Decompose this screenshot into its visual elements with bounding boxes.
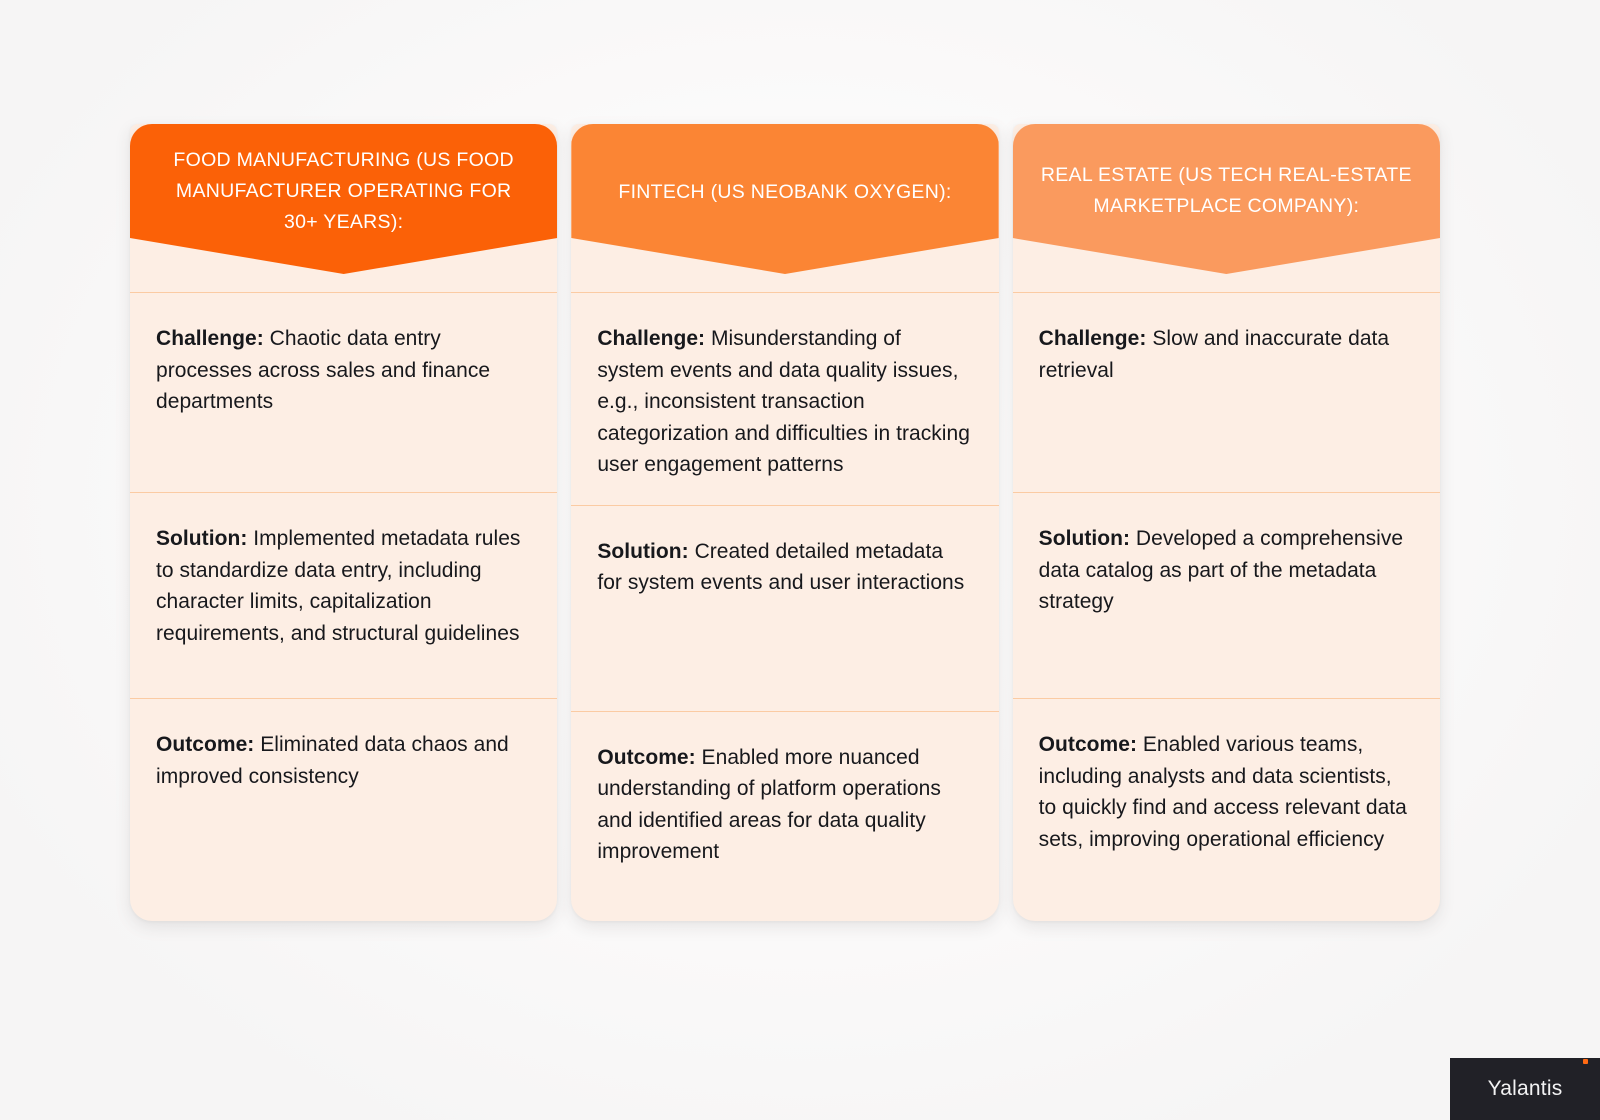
section-outcome: Outcome: Eliminated data chaos and impro… [130,698,557,908]
section-challenge: Challenge: Misunderstanding of system ev… [571,292,998,505]
card-header-title: FINTECH (US NEOBANK OXYGEN): [618,177,951,208]
watermark-label: Yalantis [1488,1077,1563,1101]
section-challenge-text: Challenge: Chaotic data entry processes … [156,323,531,418]
section-outcome-text: Outcome: Enabled various teams, includin… [1039,729,1414,855]
card-header-title: FOOD MANUFACTURING (US FOOD MANUFACTURER… [158,145,529,238]
section-challenge-text: Challenge: Slow and inaccurate data retr… [1039,323,1414,386]
section-solution-text: Solution: Created detailed metadata for … [597,536,972,599]
section-outcome: Outcome: Enabled more nuanced understand… [571,711,998,921]
card-header-real-estate: REAL ESTATE (US TECH REAL-ESTATE MARKETP… [1013,124,1440,274]
section-challenge-label: Challenge: [597,327,705,350]
card-header-fintech: FINTECH (US NEOBANK OXYGEN): [571,124,998,274]
section-outcome-label: Outcome: [597,746,695,769]
section-solution-label: Solution: [597,540,688,563]
section-solution-text: Solution: Developed a comprehensive data… [1039,523,1414,618]
case-study-card-food-manufacturing: FOOD MANUFACTURING (US FOOD MANUFACTURER… [130,124,557,921]
case-study-card-fintech: FINTECH (US NEOBANK OXYGEN): Challenge: … [571,124,998,921]
section-solution-label: Solution: [1039,527,1130,550]
section-outcome-label: Outcome: [1039,733,1137,756]
section-solution: Solution: Created detailed metadata for … [571,505,998,711]
section-challenge-text: Challenge: Misunderstanding of system ev… [597,323,972,481]
section-challenge: Challenge: Slow and inaccurate data retr… [1013,292,1440,492]
section-solution-label: Solution: [156,527,247,550]
card-header-title: REAL ESTATE (US TECH REAL-ESTATE MARKETP… [1041,160,1412,222]
case-study-card-grid: FOOD MANUFACTURING (US FOOD MANUFACTURER… [130,124,1440,921]
watermark-badge: Yalantis [1450,1058,1600,1120]
section-solution: Solution: Implemented metadata rules to … [130,492,557,698]
section-outcome-text: Outcome: Eliminated data chaos and impro… [156,729,531,792]
section-outcome: Outcome: Enabled various teams, includin… [1013,698,1440,908]
section-challenge-label: Challenge: [156,327,264,350]
case-study-card-real-estate: REAL ESTATE (US TECH REAL-ESTATE MARKETP… [1013,124,1440,921]
card-header-food-manufacturing: FOOD MANUFACTURING (US FOOD MANUFACTURER… [130,124,557,274]
section-challenge-label: Challenge: [1039,327,1147,350]
section-challenge: Challenge: Chaotic data entry processes … [130,292,557,492]
watermark-accent-dot-icon [1583,1059,1588,1064]
section-outcome-text: Outcome: Enabled more nuanced understand… [597,742,972,868]
section-solution: Solution: Developed a comprehensive data… [1013,492,1440,698]
section-outcome-label: Outcome: [156,733,254,756]
section-solution-text: Solution: Implemented metadata rules to … [156,523,531,649]
